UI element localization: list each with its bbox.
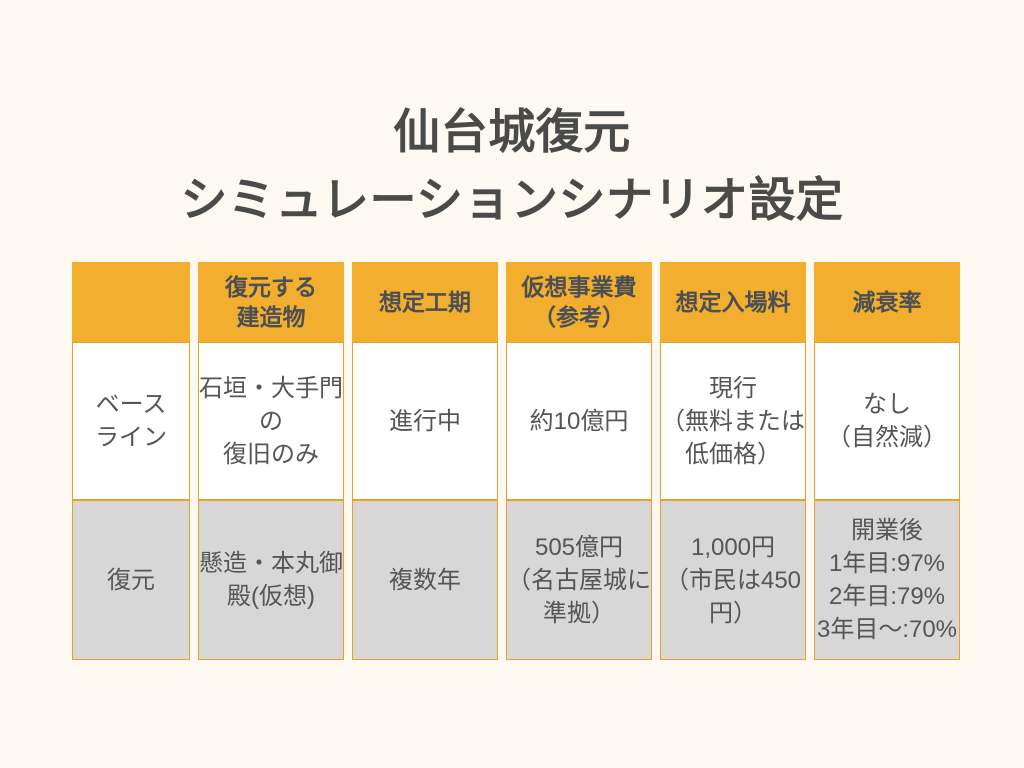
- cell-baseline-building: 石垣・大手門 の 復旧のみ: [198, 342, 344, 500]
- cell-restore-decay-line-3: 2年目:79%: [815, 580, 959, 613]
- column-header-fee: 想定入場料: [660, 262, 806, 342]
- cell-restore-cost: 505億円 （名古屋城に 準拠）: [506, 500, 652, 660]
- column-header-cost-line-2: （参考）: [506, 302, 652, 332]
- cell-baseline-cost-line-1: 約10億円: [507, 405, 651, 438]
- column-header-building: 復元する 建造物: [198, 262, 344, 342]
- column-header-cost: 仮想事業費 （参考）: [506, 262, 652, 342]
- cell-restore-decay-line-2: 1年目:97%: [815, 547, 959, 580]
- cell-baseline-decay: なし （自然減）: [814, 342, 960, 500]
- cell-restore-fee-line-1: 1,000円: [661, 531, 805, 564]
- cell-restore-cost-line-2: （名古屋城に: [507, 564, 651, 597]
- cell-restore-building-line-1: 懸造・本丸御: [199, 547, 343, 580]
- cell-restore-cost-line-1: 505億円: [507, 531, 651, 564]
- page-title: 仙台城復元 シミュレーションシナリオ設定: [0, 98, 1024, 234]
- cell-baseline-building-line-1: 石垣・大手門: [199, 372, 343, 405]
- cell-restore-fee-line-2: （市民は450: [661, 564, 805, 597]
- cell-baseline-fee-line-3: 低価格）: [661, 438, 805, 471]
- cell-baseline-fee-line-1: 現行: [661, 372, 805, 405]
- cell-baseline-scenario-line-1: ベース: [73, 388, 189, 421]
- cell-baseline-decay-line-2: （自然減）: [815, 421, 959, 454]
- cell-restore-decay: 開業後 1年目:97% 2年目:79% 3年目〜:70%: [814, 500, 960, 660]
- cell-restore-fee: 1,000円 （市民は450 円）: [660, 500, 806, 660]
- table-body: ベース ライン 石垣・大手門 の 復旧のみ 進行中 約10億円 現行 （無料また…: [72, 342, 960, 660]
- column-header-cost-line-1: 仮想事業費: [506, 272, 652, 302]
- cell-restore-building-line-2: 殿(仮想): [199, 580, 343, 613]
- cell-restore-decay-line-1: 開業後: [815, 514, 959, 547]
- cell-baseline-scenario: ベース ライン: [72, 342, 190, 500]
- cell-baseline-cost: 約10億円: [506, 342, 652, 500]
- page-title-line-1: 仙台城復元: [0, 98, 1024, 166]
- cell-baseline-fee-line-2: （無料または: [661, 405, 805, 438]
- column-header-period-line-1: 想定工期: [352, 287, 498, 317]
- scenario-settings-table: 復元する 建造物 想定工期 仮想事業費 （参考） 想定入場料 減衰率 ベース ラ…: [64, 262, 968, 660]
- column-header-building-line-1: 復元する: [198, 272, 344, 302]
- column-header-decay: 減衰率: [814, 262, 960, 342]
- cell-baseline-building-line-3: 復旧のみ: [199, 438, 343, 471]
- cell-restore-period-line-1: 複数年: [353, 564, 497, 597]
- column-header-decay-line-1: 減衰率: [814, 287, 960, 317]
- table-row-restore: 復元 懸造・本丸御 殿(仮想) 複数年 505億円 （名古屋城に 準拠） 1,0…: [72, 500, 960, 660]
- cell-restore-fee-line-3: 円）: [661, 597, 805, 630]
- cell-baseline-period: 進行中: [352, 342, 498, 500]
- cell-baseline-fee: 現行 （無料または 低価格）: [660, 342, 806, 500]
- cell-baseline-building-line-2: の: [199, 405, 343, 438]
- cell-restore-decay-line-4: 3年目〜:70%: [815, 613, 959, 646]
- cell-restore-cost-line-3: 準拠）: [507, 597, 651, 630]
- column-header-fee-line-1: 想定入場料: [660, 287, 806, 317]
- cell-restore-scenario: 復元: [72, 500, 190, 660]
- column-header-period: 想定工期: [352, 262, 498, 342]
- cell-restore-scenario-line-1: 復元: [73, 564, 189, 597]
- page-title-line-2: シミュレーションシナリオ設定: [0, 166, 1024, 234]
- column-header-scenario: [72, 262, 190, 342]
- cell-restore-period: 複数年: [352, 500, 498, 660]
- cell-baseline-scenario-line-2: ライン: [73, 421, 189, 454]
- cell-restore-building: 懸造・本丸御 殿(仮想): [198, 500, 344, 660]
- table-row-baseline: ベース ライン 石垣・大手門 の 復旧のみ 進行中 約10億円 現行 （無料また…: [72, 342, 960, 500]
- table-header-row: 復元する 建造物 想定工期 仮想事業費 （参考） 想定入場料 減衰率: [72, 262, 960, 342]
- cell-baseline-decay-line-1: なし: [815, 388, 959, 421]
- column-header-building-line-2: 建造物: [198, 302, 344, 332]
- table-header: 復元する 建造物 想定工期 仮想事業費 （参考） 想定入場料 減衰率: [72, 262, 960, 342]
- cell-baseline-period-line-1: 進行中: [353, 405, 497, 438]
